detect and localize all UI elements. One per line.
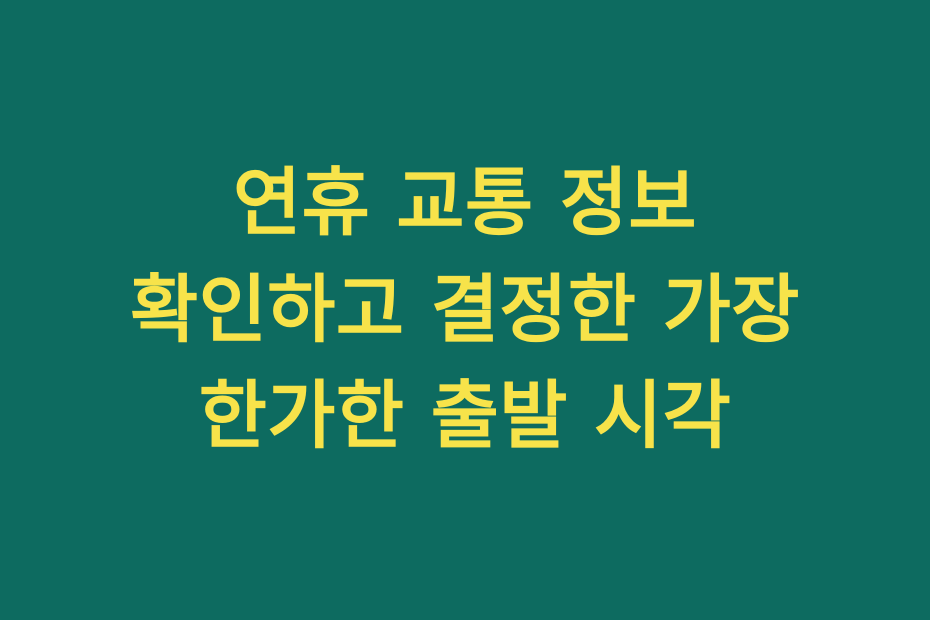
- headline-text: 연휴 교통 정보 확인하고 결정한 가장 한가한 출발 시각: [85, 150, 845, 470]
- text-card: 연휴 교통 정보 확인하고 결정한 가장 한가한 출발 시각: [0, 0, 930, 620]
